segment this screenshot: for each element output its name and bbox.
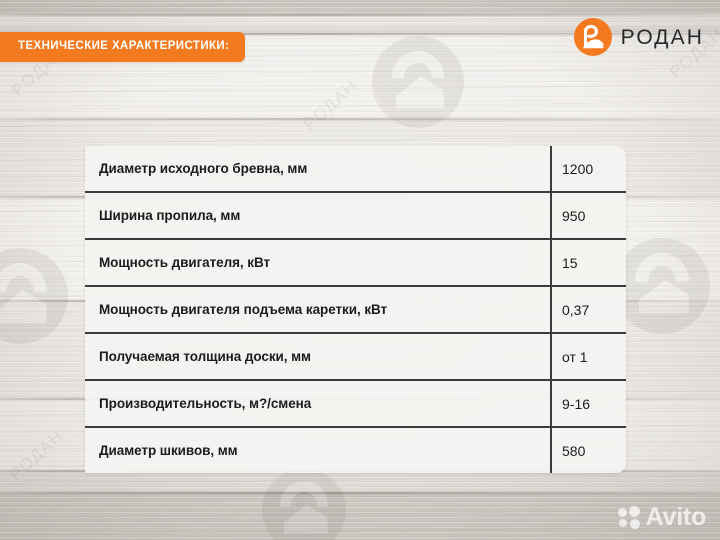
spec-label: Диаметр исходного бревна, мм xyxy=(85,146,551,192)
spec-label: Мощность двигателя подъема каретки, кВт xyxy=(85,286,551,333)
spec-value: 9-16 xyxy=(551,380,626,427)
spec-value: 950 xyxy=(551,192,626,239)
spec-label: Производительность, м?/смена xyxy=(85,380,551,427)
spec-value: от 1 xyxy=(551,333,626,380)
rodan-swoosh-icon xyxy=(574,18,612,56)
screenshot-root: РОДАН РОДАН РОДАН РОДАН ТЕХНИЧЕСКИЕ ХАРА… xyxy=(0,0,720,540)
table-row: Ширина пропила, мм 950 xyxy=(85,192,626,239)
spec-label: Получаемая толщина доски, мм xyxy=(85,333,551,380)
brand-wordmark: РОДАН xyxy=(621,27,704,48)
table-row: Диаметр шкивов, мм 580 xyxy=(85,427,626,473)
spec-value: 1200 xyxy=(551,146,626,192)
table-row: Производительность, м?/смена 9-16 xyxy=(85,380,626,427)
table-row: Диаметр исходного бревна, мм 1200 xyxy=(85,146,626,192)
avito-dots-icon xyxy=(618,506,642,530)
avito-watermark: Avito xyxy=(618,505,706,530)
spec-table-panel: Диаметр исходного бревна, мм 1200 Ширина… xyxy=(85,146,626,473)
spec-label: Мощность двигателя, кВт xyxy=(85,239,551,286)
spec-label: Диаметр шкивов, мм xyxy=(85,427,551,473)
table-row: Получаемая толщина доски, мм от 1 xyxy=(85,333,626,380)
table-row: Мощность двигателя подъема каретки, кВт … xyxy=(85,286,626,333)
avito-wordmark: Avito xyxy=(646,505,706,530)
spec-value: 580 xyxy=(551,427,626,473)
section-header-title: ТЕХНИЧЕСКИЕ ХАРАКТЕРИСТИКИ: xyxy=(18,41,229,53)
spec-table: Диаметр исходного бревна, мм 1200 Ширина… xyxy=(85,146,626,473)
brand-logo: РОДАН xyxy=(574,18,704,56)
spec-value: 0,37 xyxy=(551,286,626,333)
spec-label: Ширина пропила, мм xyxy=(85,192,551,239)
spec-table-body: Диаметр исходного бревна, мм 1200 Ширина… xyxy=(85,146,626,473)
table-row: Мощность двигателя, кВт 15 xyxy=(85,239,626,286)
spec-value: 15 xyxy=(551,239,626,286)
section-header-banner: ТЕХНИЧЕСКИЕ ХАРАКТЕРИСТИКИ: xyxy=(0,32,245,62)
